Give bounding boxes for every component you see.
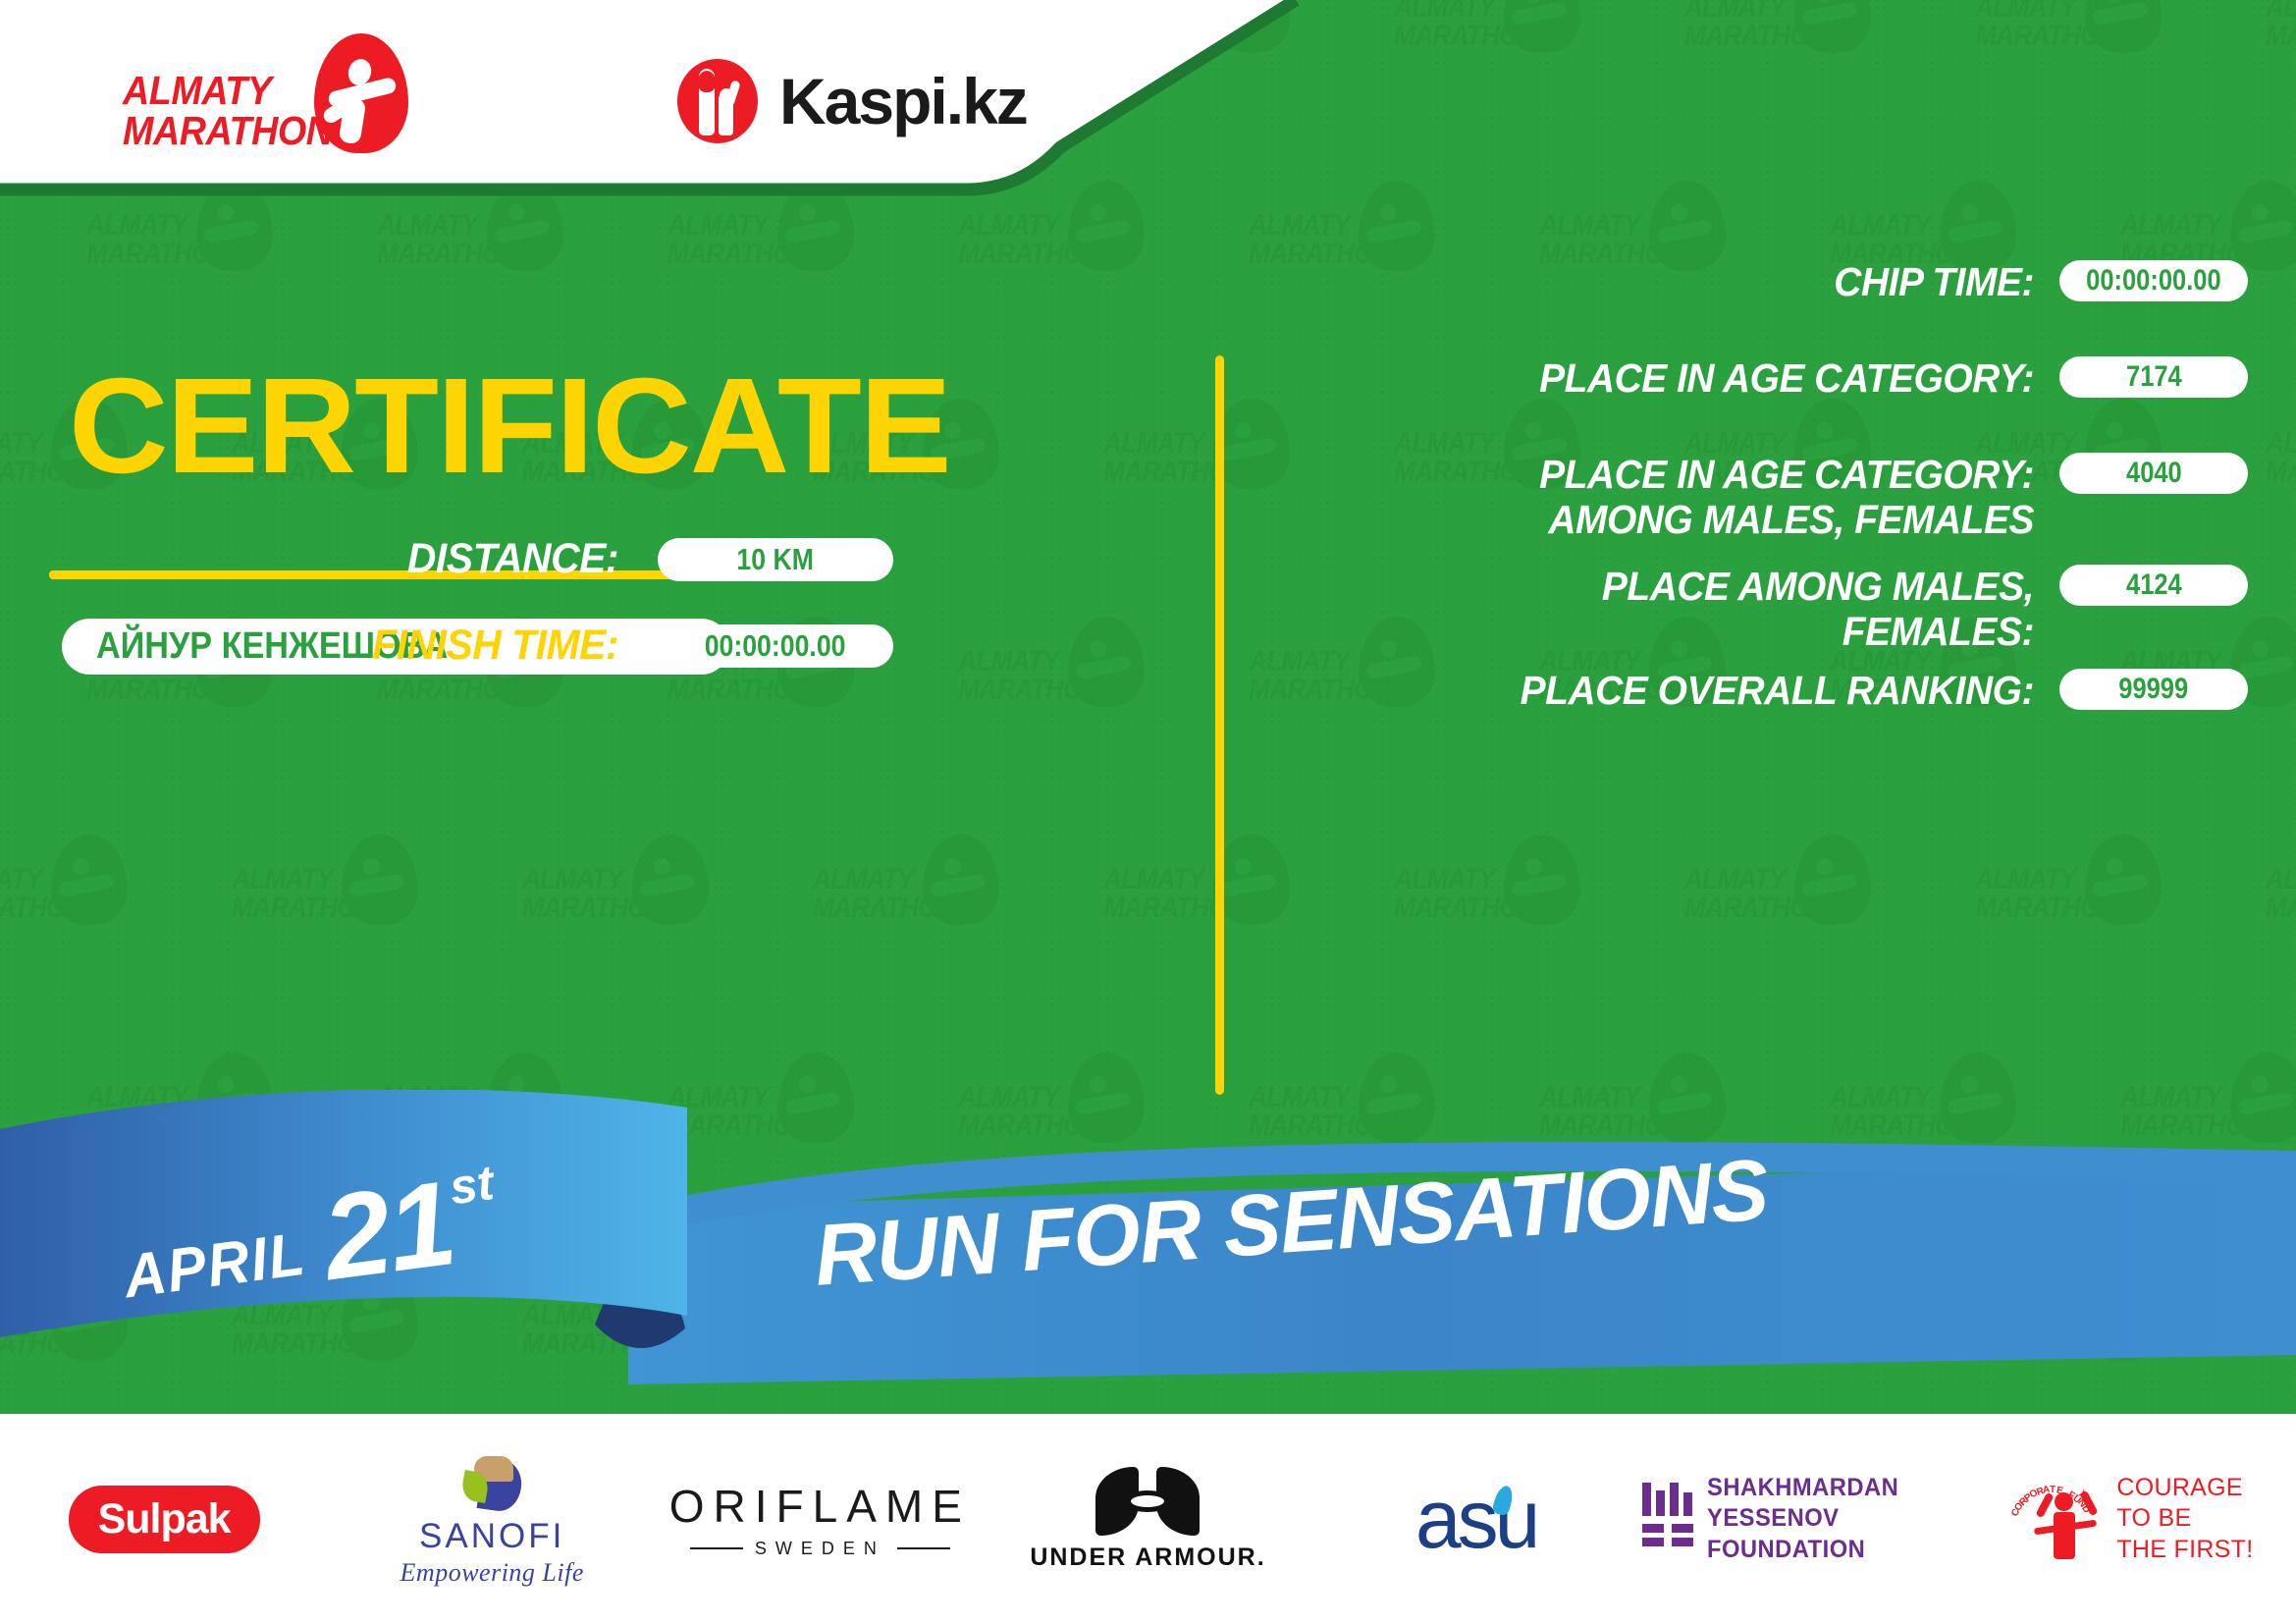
- sponsor-logo-under-armour: UNDER ARMOUR.: [984, 1414, 1311, 1624]
- event-day: 21: [317, 1169, 459, 1293]
- page-title: CERTIFICATE: [69, 358, 950, 494]
- oriflame-logo-text: ORIFLAME: [669, 1480, 971, 1533]
- sanofi-logo-text: SANOFI: [400, 1517, 584, 1556]
- event-month: APRIL: [120, 1219, 310, 1313]
- sanofi-tagline: Empowering Life: [400, 1558, 584, 1588]
- stat-value-pill: 4040: [2059, 453, 2248, 494]
- sponsor-logo-yessenov-foundation: SHAKHMARDAN YESSENOV FOUNDATION: [1640, 1414, 1968, 1624]
- almaty-marathon-logo: ALMATY MARATHON: [123, 41, 437, 154]
- kaspi-adult-notch-shape: [698, 71, 716, 92]
- stat-label: PLACE OVERALL RANKING:: [1305, 669, 2034, 714]
- sponsor-logo-sanofi: SANOFI Empowering Life: [328, 1414, 656, 1624]
- stat-row: PLACE OVERALL RANKING: 99999: [1266, 669, 2248, 714]
- courage-body-shape: [2054, 1512, 2075, 1559]
- stat-value-pill: 99999: [2059, 669, 2248, 710]
- stat-row: PLACE IN AGE CATEGORY: 7174: [1266, 356, 2248, 402]
- distance-row: DISTANCE: 10 KM: [0, 535, 1080, 583]
- yessenov-bar-shape: [1642, 1483, 1651, 1516]
- oriflame-rule-right: [897, 1547, 950, 1549]
- stat-value-pill: 7174: [2059, 356, 2248, 398]
- kaspi-logo: Kaspi.kz: [677, 59, 1027, 143]
- stat-label: PLACE IN AGE CATEGORY: AMONG MALES, FEMA…: [1305, 453, 2034, 543]
- header-bar: ALMATY MARATHON Kaspi.kz: [0, 0, 1266, 189]
- yessenov-bar-shape: [1672, 1524, 1693, 1533]
- under-armour-logo-text: UNDER ARMOUR.: [1030, 1543, 1265, 1572]
- yessenov-bar-shape: [1683, 1492, 1692, 1516]
- yessenov-bar-shape: [1642, 1538, 1664, 1546]
- courage-fund-logo-text: COURAGE TO BE THE FIRST!: [2116, 1473, 2253, 1566]
- distance-value-pill: 10 KM: [658, 538, 893, 581]
- distance-label: DISTANCE:: [31, 535, 619, 583]
- sulpak-logo-text: Sulpak: [69, 1486, 260, 1553]
- yessenov-foundation-icon: [1640, 1483, 1686, 1555]
- kaspi-family-icon: [677, 59, 758, 143]
- sponsor-strip: Sulpak SANOFI Empowering Life ORIFLAME S…: [0, 1414, 2296, 1624]
- finish-time-label: FINISH TIME:: [31, 622, 619, 670]
- certificate-root: ALMATY MARATHONALMATY MARATHONALMATY MAR…: [0, 0, 2296, 1624]
- oriflame-sub-text: SWEDEN: [755, 1539, 885, 1559]
- sponsor-logo-sulpak: Sulpak: [0, 1414, 328, 1624]
- finish-time-value-pill: 00:00:00.00: [658, 624, 893, 668]
- yessenov-bar-shape: [1642, 1524, 1664, 1533]
- stat-value-pill: 4124: [2059, 565, 2248, 606]
- almaty-marathon-logo-text: ALMATY MARATHON: [123, 71, 333, 151]
- distance-value: 10 KM: [737, 542, 815, 577]
- asu-logo-text: asu: [1415, 1473, 1536, 1565]
- stat-label: CHIP TIME:: [1305, 260, 2034, 305]
- finish-time-value: 00:00:00.00: [705, 628, 846, 664]
- oriflame-sub-row: SWEDEN: [669, 1539, 971, 1559]
- stat-value: 7174: [2126, 360, 2182, 394]
- sponsor-logo-asu: asu: [1312, 1414, 1640, 1624]
- event-day-suffix: st: [447, 1154, 498, 1216]
- yessenov-foundation-logo-text: SHAKHMARDAN YESSENOV FOUNDATION: [1707, 1473, 1954, 1565]
- courage-fund-icon: CORPORATE FUND ✦: [2010, 1477, 2101, 1561]
- sponsor-logo-oriflame: ORIFLAME SWEDEN: [656, 1414, 984, 1624]
- stat-row: PLACE AMONG MALES, FEMALES: 4124: [1266, 565, 2248, 655]
- stat-label: PLACE AMONG MALES, FEMALES:: [1305, 565, 2034, 655]
- stat-value-pill: 00:00:00.00: [2059, 260, 2248, 301]
- oriflame-rule-left: [690, 1547, 743, 1549]
- yessenov-bar-shape: [1670, 1483, 1679, 1516]
- event-ribbon: APRIL 21 st RUN FOR SENSATIONS: [0, 1090, 2296, 1414]
- finish-time-row: FINISH TIME: 00:00:00.00: [0, 622, 1080, 670]
- courage-fund-runner-shape: ✦: [2040, 1487, 2095, 1559]
- stat-row: CHIP TIME: 00:00:00.00: [1266, 260, 2248, 305]
- yessenov-bar-shape: [1656, 1490, 1665, 1516]
- stat-label: PLACE IN AGE CATEGORY:: [1305, 356, 2034, 402]
- runner-drop-icon: [314, 33, 408, 153]
- kaspi-child-head-shape: [720, 88, 733, 103]
- yessenov-bar-shape: [1672, 1538, 1693, 1546]
- under-armour-icon: [1095, 1467, 1200, 1536]
- sanofi-icon: [454, 1456, 529, 1513]
- courage-head-shape: [2055, 1492, 2073, 1511]
- kaspi-logo-text: Kaspi.kz: [779, 64, 1027, 138]
- column-divider: [1215, 355, 1224, 1095]
- stat-value: 00:00:00.00: [2086, 264, 2221, 298]
- stat-value: 99999: [2119, 673, 2189, 706]
- stat-value: 4040: [2126, 457, 2182, 490]
- stat-row: PLACE IN AGE CATEGORY: AMONG MALES, FEMA…: [1266, 453, 2248, 543]
- left-column: CERTIFICATE АЙНУР КЕНЖЕШОВА DISTANCE: 10…: [0, 189, 1217, 1132]
- right-column: CHIP TIME: 00:00:00.00 PLACE IN AGE CATE…: [1266, 189, 2296, 1132]
- stat-value: 4124: [2126, 568, 2182, 602]
- under-armour-center-shape: [1122, 1490, 1173, 1512]
- sponsor-logo-courage-fund: CORPORATE FUND ✦ COURAGE TO BE THE FIRST…: [1968, 1414, 2296, 1624]
